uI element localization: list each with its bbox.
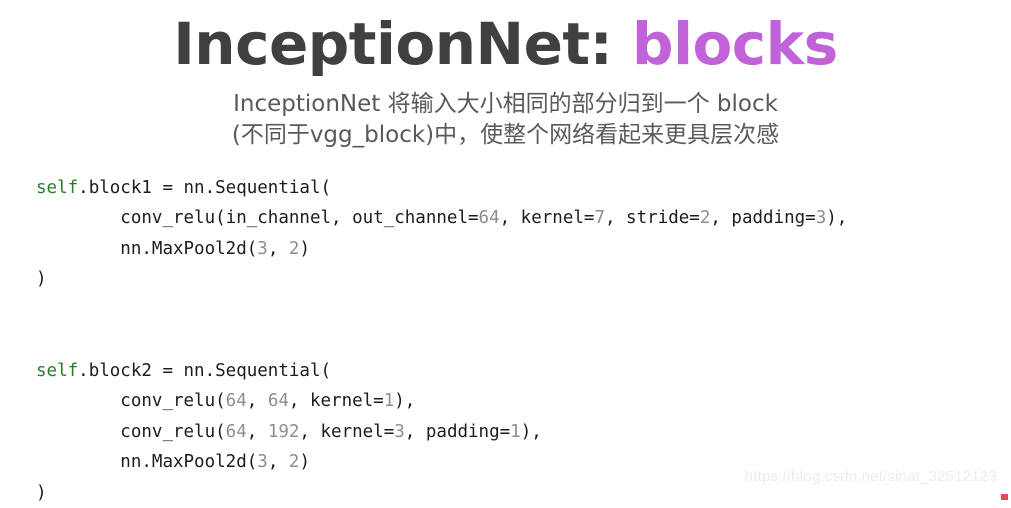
- code-indent: [36, 391, 120, 411]
- code-token-plain: , padding=: [405, 422, 510, 442]
- code-token-plain: .block1 = nn.Sequential(: [78, 178, 331, 198]
- code-token-plain: conv_relu(: [120, 391, 225, 411]
- code-token-num: 7: [594, 208, 605, 228]
- page-title: InceptionNet: blocks: [0, 14, 1011, 75]
- code-indent: [36, 452, 120, 472]
- code-token-plain: ): [299, 239, 310, 259]
- code-token-plain: nn.MaxPool2d(: [120, 452, 257, 472]
- code-token-num: 64: [479, 208, 500, 228]
- code-block: self.block1 = nn.Sequential( conv_relu(i…: [0, 173, 1011, 508]
- corner-marker: [1001, 494, 1008, 500]
- code-indent: [36, 422, 120, 442]
- code-token-num: 2: [289, 452, 300, 472]
- page-title-main: InceptionNet:: [173, 10, 632, 78]
- code-token-self: self: [36, 361, 78, 381]
- code-line: conv_relu(in_channel, out_channel=64, ke…: [36, 203, 1011, 234]
- code-token-plain: , kernel=: [299, 422, 394, 442]
- code-line: ): [36, 264, 1011, 295]
- code-line: conv_relu(64, 192, kernel=3, padding=1),: [36, 417, 1011, 448]
- code-token-num: 1: [510, 422, 521, 442]
- subtitle-area: InceptionNet 将输入大小相同的部分归到一个 block (不同于vg…: [0, 89, 1011, 151]
- watermark-text: https://blog.csdn.net/sinat_32512123: [745, 468, 997, 485]
- code-token-plain: , padding=: [710, 208, 815, 228]
- subtitle-line-1: InceptionNet 将输入大小相同的部分归到一个 block: [0, 89, 1011, 120]
- code-token-plain: ,: [247, 422, 268, 442]
- code-token-plain: ): [299, 452, 310, 472]
- title-area: InceptionNet: blocks: [0, 0, 1011, 75]
- code-token-plain: ,: [268, 452, 289, 472]
- code-token-num: 64: [226, 422, 247, 442]
- code-token-plain: , stride=: [605, 208, 700, 228]
- code-token-plain: conv_relu(: [120, 422, 225, 442]
- code-token-plain: ): [36, 483, 47, 503]
- code-token-num: 2: [289, 239, 300, 259]
- code-token-num: 3: [257, 452, 268, 472]
- page-title-accent: blocks: [632, 10, 838, 78]
- code-token-num: 3: [816, 208, 827, 228]
- code-line: conv_relu(64, 64, kernel=1),: [36, 386, 1011, 417]
- code-token-num: 1: [384, 391, 395, 411]
- code-line: nn.MaxPool2d(3, 2): [36, 234, 1011, 265]
- code-token-plain: ,: [247, 391, 268, 411]
- code-token-plain: nn.MaxPool2d(: [120, 239, 257, 259]
- code-line: self.block2 = nn.Sequential(: [36, 356, 1011, 387]
- code-token-plain: ): [36, 269, 47, 289]
- code-token-plain: , kernel=: [500, 208, 595, 228]
- code-token-num: 64: [226, 391, 247, 411]
- code-token-plain: ),: [394, 391, 415, 411]
- code-token-num: 192: [268, 422, 300, 442]
- code-token-plain: ,: [268, 239, 289, 259]
- code-token-plain: , kernel=: [289, 391, 384, 411]
- subtitle-line-2: (不同于vgg_block)中，使整个网络看起来更具层次感: [0, 120, 1011, 151]
- code-token-num: 3: [394, 422, 405, 442]
- code-token-plain: ),: [521, 422, 542, 442]
- code-token-plain: ),: [826, 208, 847, 228]
- code-line: [36, 325, 1011, 356]
- code-token-num: 64: [268, 391, 289, 411]
- code-token-num: 3: [257, 239, 268, 259]
- slide-canvas: InceptionNet: blocks InceptionNet 将输入大小相…: [0, 0, 1011, 503]
- code-indent: [36, 239, 120, 259]
- code-token-num: 2: [700, 208, 711, 228]
- code-line: self.block1 = nn.Sequential(: [36, 173, 1011, 204]
- code-token-plain: .block2 = nn.Sequential(: [78, 361, 331, 381]
- code-line: [36, 295, 1011, 326]
- code-token-self: self: [36, 178, 78, 198]
- code-indent: [36, 208, 120, 228]
- code-token-plain: conv_relu(in_channel, out_channel=: [120, 208, 478, 228]
